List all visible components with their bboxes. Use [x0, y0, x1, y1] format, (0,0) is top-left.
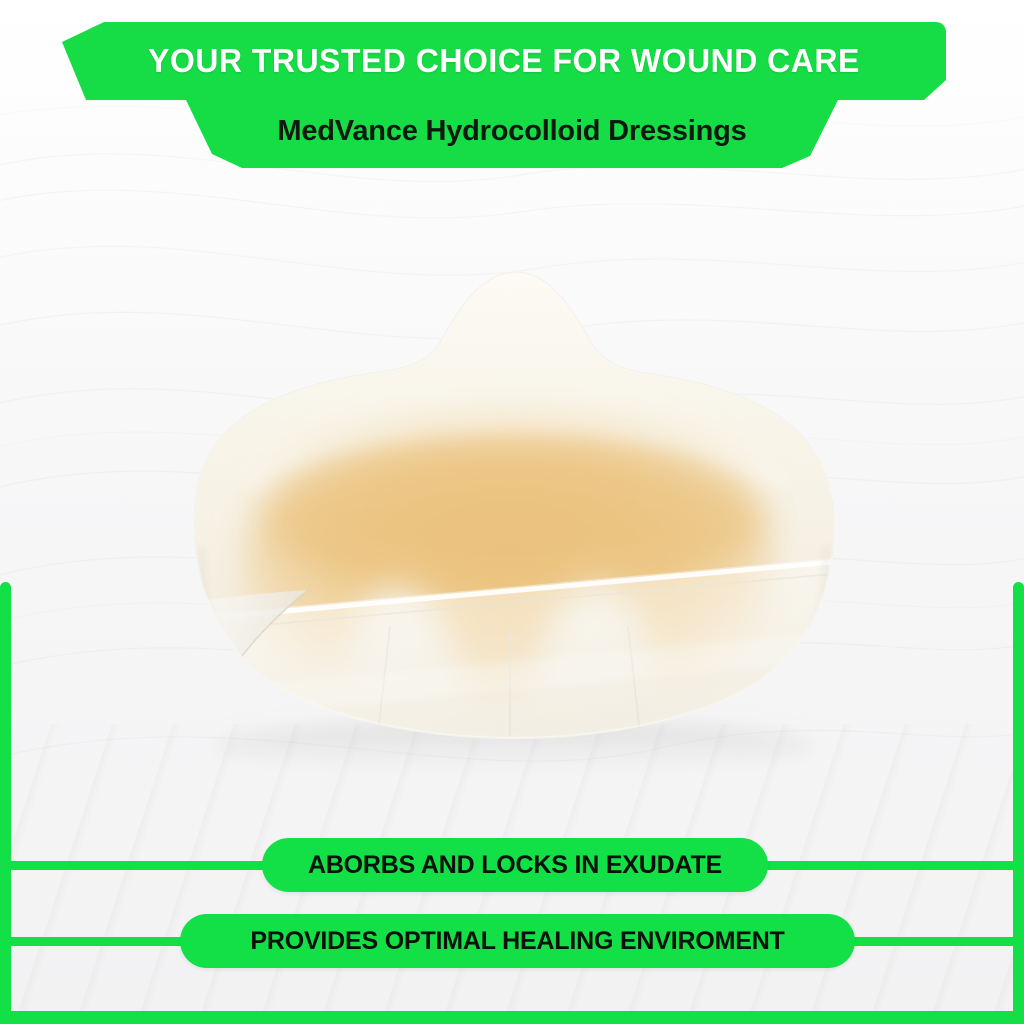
product-name-text: MedVance Hydrocolloid Dressings — [277, 115, 746, 148]
headline-banner: YOUR TRUSTED CHOICE FOR WOUND CARE — [62, 22, 946, 100]
headline-text: YOUR TRUSTED CHOICE FOR WOUND CARE — [148, 42, 860, 80]
feature-1-label: ABORBS AND LOCKS IN EXUDATE — [308, 851, 722, 880]
frame-bar-left — [0, 582, 11, 1024]
feature-2-label: PROVIDES OPTIMAL HEALING ENVIROMENT — [250, 927, 784, 956]
product-promo-canvas: YOUR TRUSTED CHOICE FOR WOUND CARE MedVa… — [0, 0, 1024, 1024]
feature-pill-2: PROVIDES OPTIMAL HEALING ENVIROMENT — [180, 914, 855, 968]
product-image — [128, 222, 900, 782]
product-name-banner: MedVance Hydrocolloid Dressings — [186, 100, 838, 168]
feature-pill-1: ABORBS AND LOCKS IN EXUDATE — [262, 838, 768, 892]
frame-bar-bottom — [0, 1011, 1024, 1024]
frame-bar-right — [1013, 582, 1024, 1024]
